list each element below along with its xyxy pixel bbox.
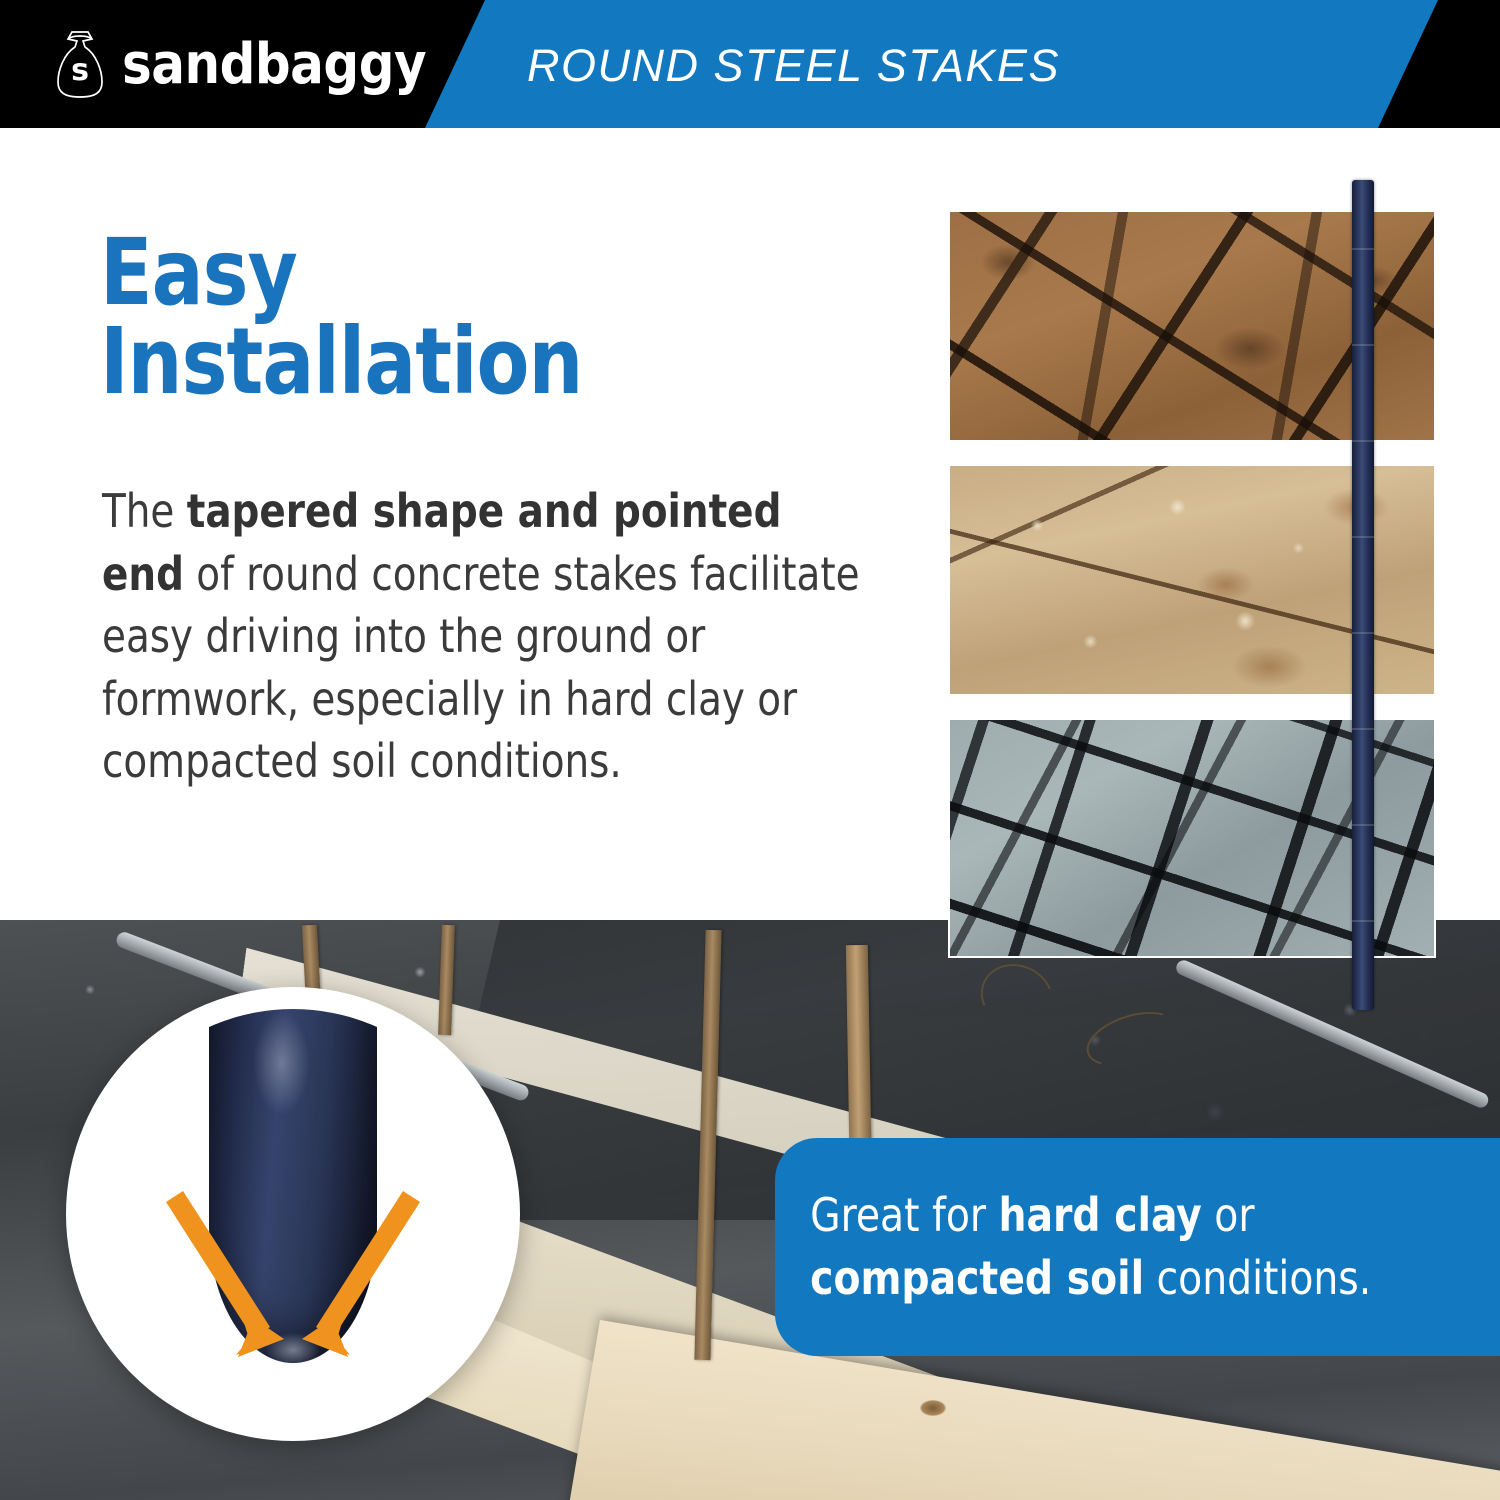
arrow-left-icon <box>166 1191 284 1357</box>
stake-tip-closeup-image <box>88 1009 498 1419</box>
brand-logo[interactable]: s SANDBAGGY <box>52 28 426 100</box>
callout-bold-1: hard clay <box>999 1188 1202 1242</box>
page-header: s SANDBAGGY ROUND STEEL STAKES <box>0 0 1500 128</box>
callout-text-3: conditions. <box>1144 1251 1371 1305</box>
page-title: Easy Installation <box>100 228 582 406</box>
infographic-page: s SANDBAGGY ROUND STEEL STAKES Easy Inst… <box>0 0 1500 1500</box>
header-title: ROUND STEEL STAKES <box>527 40 1060 92</box>
body-paragraph: The tapered shape and pointed end of rou… <box>102 480 863 793</box>
callout-text: Great for hard clay or compacted soil co… <box>775 1184 1464 1311</box>
brand-name: SANDBAGGY <box>122 36 426 92</box>
body-text-2: of round concrete stakes facilitate easy… <box>102 547 860 789</box>
round-steel-stake-rod <box>1352 180 1374 1010</box>
stake-tip-closeup-inset <box>66 987 520 1441</box>
arrow-right-icon <box>302 1191 420 1357</box>
taper-indicator-arrows <box>88 1009 498 1419</box>
sandbag-icon: s <box>52 28 108 100</box>
callout-text-1: Great for <box>810 1188 998 1242</box>
text-content-card: Easy Installation The tapered shape and … <box>0 128 920 920</box>
callout-text-2: or <box>1202 1188 1255 1242</box>
callout-banner: Great for hard clay or compacted soil co… <box>775 1138 1500 1356</box>
wood-knot <box>920 1400 946 1416</box>
callout-bold-2: compacted soil <box>810 1251 1144 1305</box>
svg-text:s: s <box>71 53 89 88</box>
body-text-1: The <box>102 484 187 538</box>
